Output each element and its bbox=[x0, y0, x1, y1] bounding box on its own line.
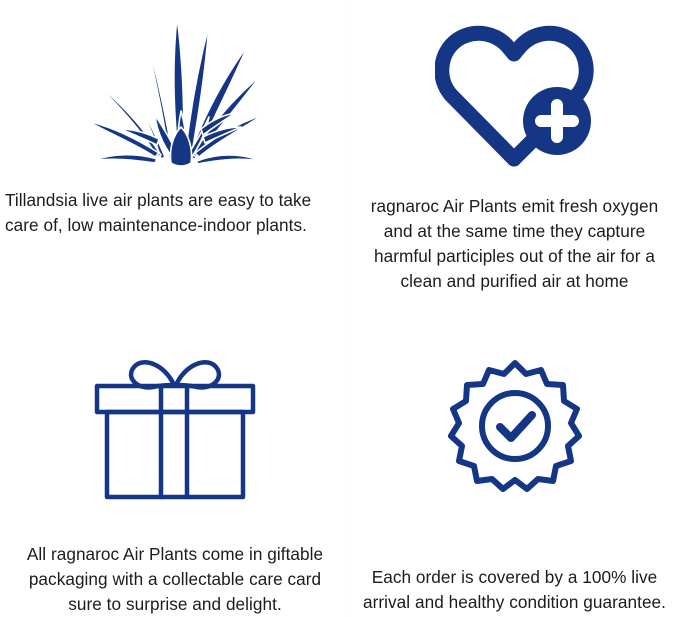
panel-caption: ragnaroc Air Plants emit fresh oxygen an… bbox=[357, 182, 673, 294]
air-plant-icon bbox=[85, 11, 265, 169]
air-plant-icon-holder bbox=[0, 0, 350, 176]
panel-caption: All ragnaroc Air Plants come in giftable… bbox=[15, 520, 335, 617]
feature-panel-fresh-oxygen: ragnaroc Air Plants emit fresh oxygen an… bbox=[350, 0, 679, 309]
heart-plus-icon bbox=[435, 21, 595, 171]
feature-panel-live-arrival-guarantee: Each order is covered by a 100% live arr… bbox=[350, 309, 679, 617]
feature-grid: Tillandsia live air plants are easy to t… bbox=[0, 0, 679, 617]
badge-inner-circle bbox=[482, 393, 548, 459]
guarantee-badge-icon bbox=[448, 359, 582, 493]
gift-box-icon-holder bbox=[0, 309, 350, 520]
feature-panel-giftable-packaging: All ragnaroc Air Plants come in giftable… bbox=[0, 309, 350, 617]
panel-divider-vertical bbox=[350, 309, 351, 617]
check-icon bbox=[500, 415, 532, 438]
panel-caption: Each order is covered by a 100% live arr… bbox=[355, 521, 675, 615]
guarantee-badge-icon-holder bbox=[350, 309, 679, 521]
panel-divider-vertical bbox=[350, 0, 351, 309]
heart-plus-icon-holder bbox=[350, 0, 679, 182]
panel-caption: Tillandsia live air plants are easy to t… bbox=[5, 176, 345, 238]
gift-box-icon bbox=[90, 353, 260, 505]
feature-panel-air-plant-care: Tillandsia live air plants are easy to t… bbox=[0, 0, 350, 309]
badge-starburst bbox=[451, 363, 579, 489]
